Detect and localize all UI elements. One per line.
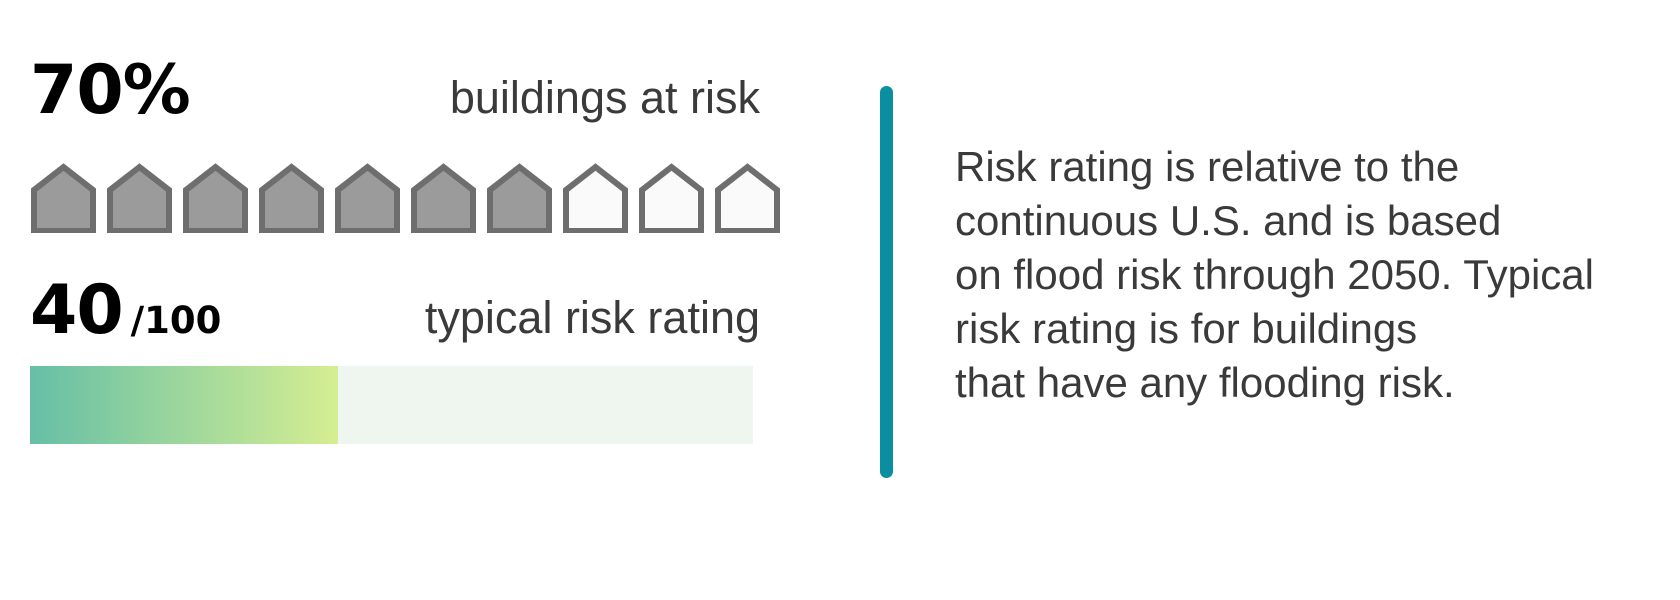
note-line: Risk rating is relative to the [955,140,1655,194]
house-icon [258,163,325,233]
house-icon [562,163,629,233]
vertical-divider [880,86,893,478]
house-icon [182,163,249,233]
risk-rating-denominator: /100 [131,301,222,341]
risk-rating-bar-track [30,366,753,444]
buildings-at-risk-row: 70% buildings at risk [30,55,760,133]
risk-rating-note: Risk rating is relative to thecontinuous… [955,140,1655,410]
house-icon [106,163,173,233]
risk-rating-label: typical risk rating [425,293,760,343]
note-line: continuous U.S. and is based [955,194,1655,248]
house-icon [30,163,97,233]
buildings-at-risk-label: buildings at risk [450,73,760,123]
left-metrics-column: 70% buildings at risk [30,55,760,133]
note-line: that have any flooding risk. [955,356,1655,410]
risk-rating-row: 40 /100 typical risk rating [30,275,760,353]
house-icon [638,163,705,233]
buildings-at-risk-value: 70% [30,55,190,127]
house-icon [486,163,553,233]
buildings-at-risk-icon-row [30,163,781,233]
note-line: risk rating is for buildings [955,302,1655,356]
house-icon [334,163,401,233]
house-icon [714,163,781,233]
note-line: on flood risk through 2050. Typical [955,248,1655,302]
risk-rating-column: 40 /100 typical risk rating [30,275,760,353]
note-column: Risk rating is relative to thecontinuous… [955,140,1655,410]
risk-rating-bar-fill [30,366,338,444]
flood-risk-summary-panel: 70% buildings at risk 40 /100 typical ri… [0,0,1680,600]
risk-rating-value: 40 [30,275,123,347]
house-icon [410,163,477,233]
